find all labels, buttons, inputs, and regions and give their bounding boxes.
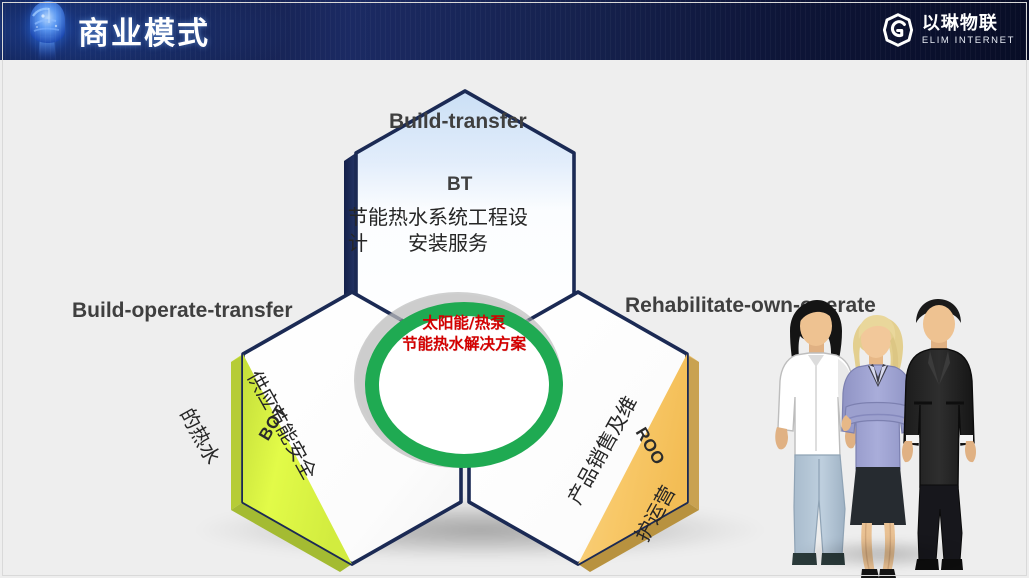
center-label-line1: 太阳能/热泵 (371, 313, 557, 334)
business-people-illustration (762, 293, 1002, 578)
figure-man-dark-suit (902, 299, 976, 570)
hexagon-body-bt-line1: 节能热水系统工程设 (348, 204, 568, 230)
page-title: 商业模式 (78, 8, 210, 53)
hexagon-body-bot-line1: 供应节能安全 (241, 367, 322, 484)
hexagon-body-bt-line2: 计 安装服务 (348, 230, 568, 256)
logo-english-name: ELIM INTERNET (922, 36, 1015, 46)
center-label: 太阳能/热泵 节能热水解决方案 (371, 313, 557, 356)
brand-logo: 以琳物联 ELIM INTERNET (881, 10, 1015, 50)
center-label-line2: 节能热水解决方案 (371, 334, 557, 355)
slide-canvas: 商业模式 以琳物联 ELIM INTERNET (0, 0, 1029, 578)
glowing-fist-icon (16, 0, 78, 60)
hexagon-body-bot-line2: 的热水 (174, 404, 255, 521)
logo-chinese-name: 以琳物联 (922, 15, 1015, 33)
figure-woman-white-shirt (775, 300, 856, 565)
logo-text-block: 以琳物联 ELIM INTERNET (922, 15, 1015, 46)
hexagon-body-roo-line1: 产品销售及维 (563, 392, 644, 509)
diagram-stage: Build-transfer Build-operate-transfer Re… (0, 60, 1029, 578)
hexagon-body-roo-line2: 护运营 (630, 429, 711, 546)
caption-build-operate-transfer: Build-operate-transfer (72, 299, 293, 323)
elim-g-logo-icon (881, 13, 915, 47)
fist-icon-svg (16, 0, 78, 60)
hexagon-body-bt: 节能热水系统工程设 计 安装服务 (348, 204, 568, 256)
people-shadow (766, 533, 998, 575)
hexagon-tag-bt: BT (447, 174, 472, 196)
caption-build-transfer: Build-transfer (389, 110, 527, 134)
slide-header: 商业模式 以琳物联 ELIM INTERNET (0, 0, 1029, 60)
